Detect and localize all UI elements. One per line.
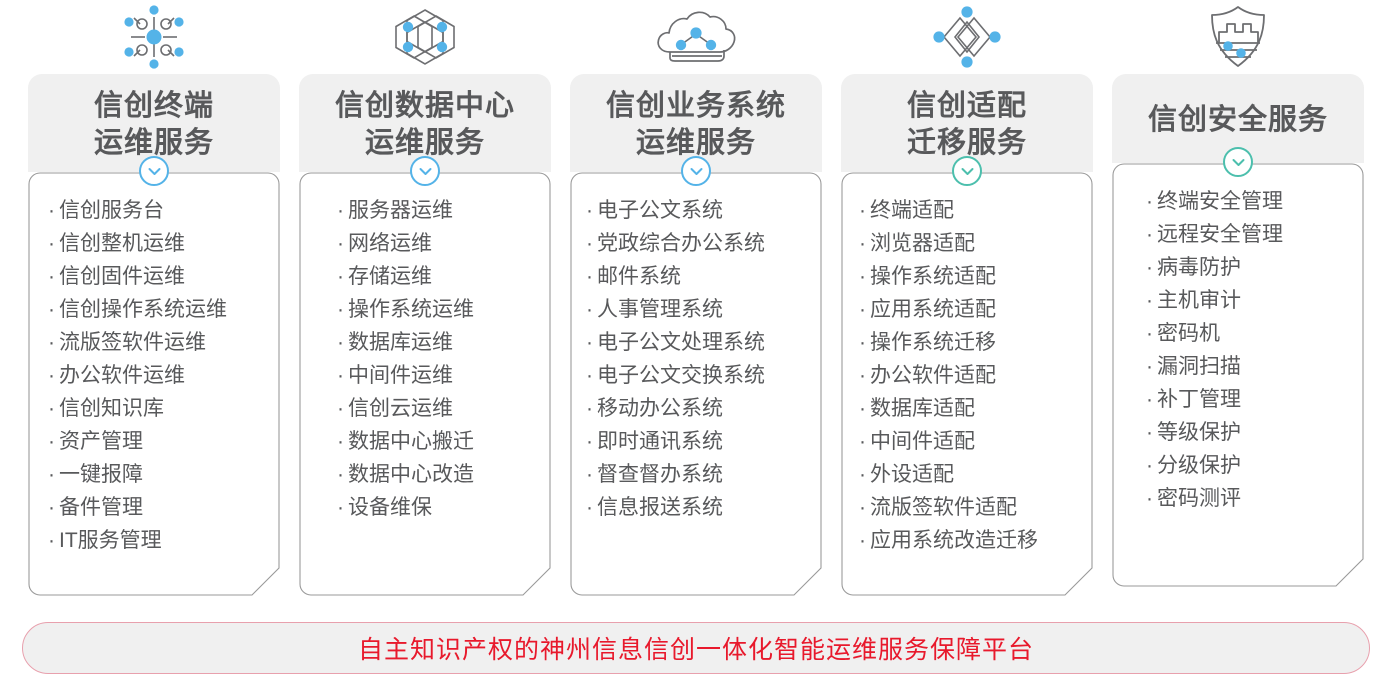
node-network-icon (28, 0, 280, 74)
column-list-card: 信创服务台 信创整机运维 信创固件运维 信创操作系统运维 流版签软件运维 办公软… (28, 172, 280, 600)
list-item: 电子公文交换系统 (586, 359, 812, 392)
list-item: 中间件适配 (859, 425, 1083, 458)
platform-banner-text: 自主知识产权的神州信息信创一体化智能运维服务保障平台 (358, 630, 1034, 666)
column-list-card: 服务器运维 网络运维 存储运维 操作系统运维 数据库运维 中间件运维 信创云运维… (299, 172, 551, 600)
column-header-card: 信创数据中心 运维服务 (299, 74, 551, 188)
service-column-datacenter-ops: 信创数据中心 运维服务 服务器运维 网络运维 存储运维 操作系统运维 数据库运维… (299, 0, 551, 600)
service-column-business-systems-ops: 信创业务系统 运维服务 电子公文系统 党政综合办公系统 邮件系统 人事管理系统 … (570, 0, 822, 600)
diamond-nodes-icon (841, 0, 1093, 74)
list-item: 党政综合办公系统 (586, 227, 812, 260)
list-item: 信创知识库 (48, 392, 270, 425)
column-title: 信创适配 迁移服务 (849, 88, 1085, 162)
list-item: 备件管理 (48, 491, 270, 524)
platform-banner: 自主知识产权的神州信息信创一体化智能运维服务保障平台 (22, 622, 1370, 674)
list-item: 漏洞扫描 (1146, 350, 1354, 383)
cloud-network-icon (570, 0, 822, 74)
list-item: IT服务管理 (48, 524, 270, 557)
list-item: 信创服务台 (48, 194, 270, 227)
chevron-down-icon[interactable] (681, 156, 711, 186)
service-column-adaptation-migration: 信创适配 迁移服务 终端适配 浏览器适配 操作系统适配 应用系统适配 操作系统迁… (841, 0, 1093, 600)
list-item: 设备维保 (337, 491, 541, 524)
list-item: 电子公文处理系统 (586, 326, 812, 359)
list-item: 一键报障 (48, 458, 270, 491)
chevron-down-icon[interactable] (952, 156, 982, 186)
column-title: 信创数据中心 运维服务 (307, 88, 543, 162)
list-item: 信创操作系统运维 (48, 293, 270, 326)
list-item: 密码测评 (1146, 482, 1354, 515)
column-title: 信创业务系统 运维服务 (578, 88, 814, 162)
list-item: 邮件系统 (586, 260, 812, 293)
column-list-card: 电子公文系统 党政综合办公系统 邮件系统 人事管理系统 电子公文处理系统 电子公… (570, 172, 822, 600)
column-header-card: 信创适配 迁移服务 (841, 74, 1093, 188)
list-item: 数据库适配 (859, 392, 1083, 425)
list-item: 流版签软件运维 (48, 326, 270, 359)
list-item: 外设适配 (859, 458, 1083, 491)
hexagon-cluster-icon (299, 0, 551, 74)
list-item: 数据中心改造 (337, 458, 541, 491)
list-item: 远程安全管理 (1146, 218, 1354, 251)
list-item: 电子公文系统 (586, 194, 812, 227)
column-list-card: 终端安全管理 远程安全管理 病毒防护 主机审计 密码机 漏洞扫描 补丁管理 等级… (1112, 163, 1364, 600)
list-item: 办公软件适配 (859, 359, 1083, 392)
list-item: 应用系统适配 (859, 293, 1083, 326)
list-item: 操作系统迁移 (859, 326, 1083, 359)
column-title: 信创终端 运维服务 (36, 88, 272, 162)
list-item: 病毒防护 (1146, 251, 1354, 284)
list-item: 信创固件运维 (48, 260, 270, 293)
list-item: 浏览器适配 (859, 227, 1083, 260)
list-item: 应用系统改造迁移 (859, 524, 1083, 557)
list-item: 数据中心搬迁 (337, 425, 541, 458)
chevron-down-icon[interactable] (139, 156, 169, 186)
service-columns-container: 信创终端 运维服务 信创服务台 信创整机运维 信创固件运维 信创操作系统运维 流… (0, 0, 1392, 600)
service-item-list: 信创服务台 信创整机运维 信创固件运维 信创操作系统运维 流版签软件运维 办公软… (48, 194, 270, 557)
column-header-card: 信创终端 运维服务 (28, 74, 280, 188)
column-title: 信创安全服务 (1120, 102, 1356, 139)
list-item: 流版签软件适配 (859, 491, 1083, 524)
service-item-list: 终端适配 浏览器适配 操作系统适配 应用系统适配 操作系统迁移 办公软件适配 数… (859, 194, 1083, 557)
list-item: 即时通讯系统 (586, 425, 812, 458)
list-item: 中间件运维 (337, 359, 541, 392)
shield-security-icon (1112, 0, 1364, 74)
list-item: 终端适配 (859, 194, 1083, 227)
list-item: 存储运维 (337, 260, 541, 293)
list-item: 终端安全管理 (1146, 185, 1354, 218)
column-header-card: 信创业务系统 运维服务 (570, 74, 822, 188)
chevron-down-icon[interactable] (1223, 147, 1253, 177)
list-item: 操作系统运维 (337, 293, 541, 326)
service-column-security: 信创安全服务 终端安全管理 远程安全管理 病毒防护 主机审计 密码机 漏洞扫描 … (1112, 0, 1364, 600)
column-list-card: 终端适配 浏览器适配 操作系统适配 应用系统适配 操作系统迁移 办公软件适配 数… (841, 172, 1093, 600)
list-item: 信息报送系统 (586, 491, 812, 524)
list-item: 等级保护 (1146, 416, 1354, 449)
list-item: 分级保护 (1146, 449, 1354, 482)
list-item: 信创整机运维 (48, 227, 270, 260)
list-item: 网络运维 (337, 227, 541, 260)
list-item: 资产管理 (48, 425, 270, 458)
list-item: 办公软件运维 (48, 359, 270, 392)
chevron-down-icon[interactable] (410, 156, 440, 186)
list-item: 数据库运维 (337, 326, 541, 359)
list-item: 督查督办系统 (586, 458, 812, 491)
list-item: 操作系统适配 (859, 260, 1083, 293)
service-item-list: 电子公文系统 党政综合办公系统 邮件系统 人事管理系统 电子公文处理系统 电子公… (586, 194, 812, 524)
list-item: 移动办公系统 (586, 392, 812, 425)
list-item: 密码机 (1146, 317, 1354, 350)
list-item: 主机审计 (1146, 284, 1354, 317)
service-item-list: 服务器运维 网络运维 存储运维 操作系统运维 数据库运维 中间件运维 信创云运维… (337, 194, 541, 524)
list-item: 服务器运维 (337, 194, 541, 227)
service-item-list: 终端安全管理 远程安全管理 病毒防护 主机审计 密码机 漏洞扫描 补丁管理 等级… (1146, 185, 1354, 515)
list-item: 人事管理系统 (586, 293, 812, 326)
service-column-terminal-ops: 信创终端 运维服务 信创服务台 信创整机运维 信创固件运维 信创操作系统运维 流… (28, 0, 280, 600)
list-item: 信创云运维 (337, 392, 541, 425)
list-item: 补丁管理 (1146, 383, 1354, 416)
